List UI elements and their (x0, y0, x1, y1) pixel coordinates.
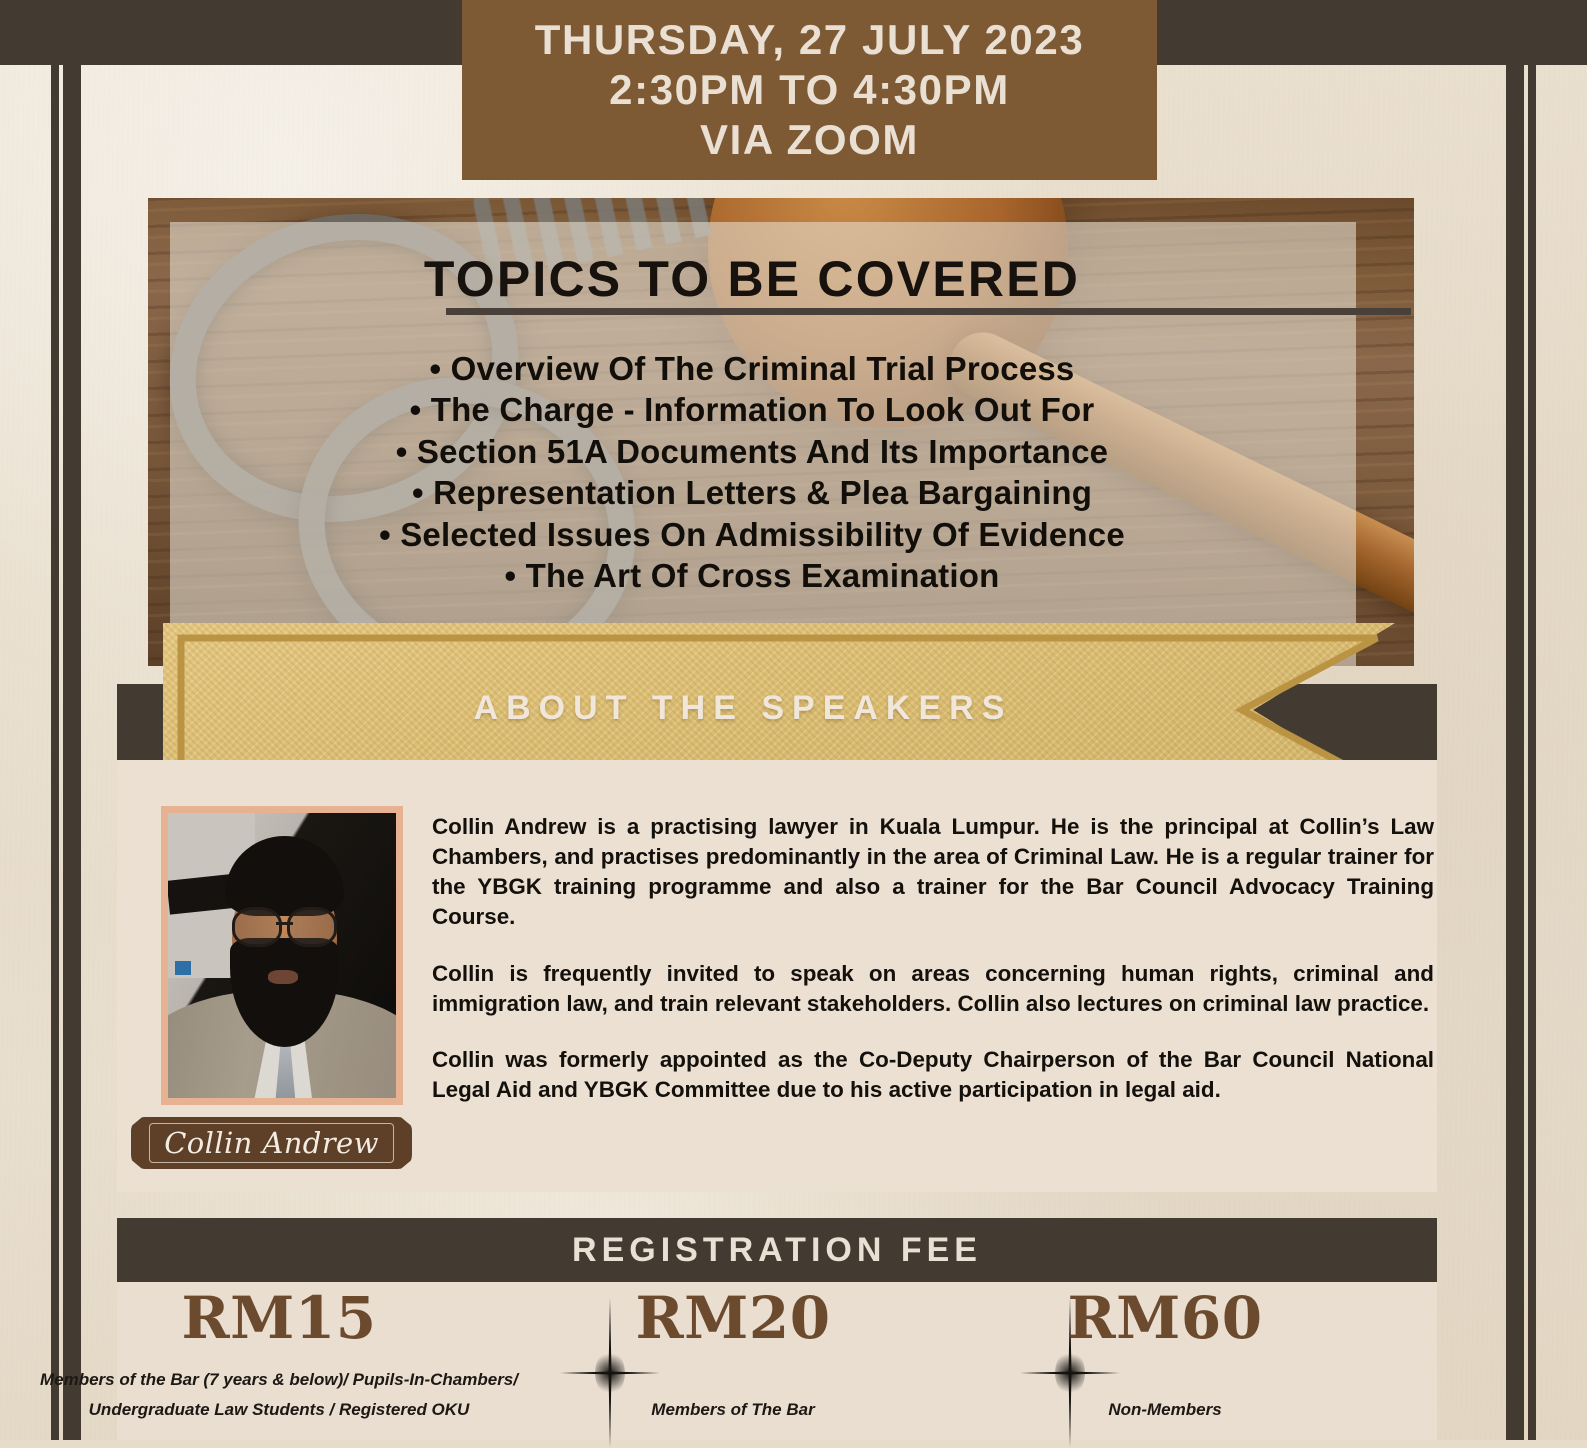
registration-fee-header: REGISTRATION FEE (117, 1218, 1437, 1282)
topics-section: TOPICS TO BE COVERED Overview Of The Cri… (148, 198, 1414, 666)
speaker-bio-text: Collin Andrew is a practising lawyer in … (432, 812, 1434, 1105)
topic-item: Section 51A Documents And Its Importance (148, 431, 1356, 472)
left-stripe-inner (63, 0, 81, 1440)
event-datetime-header: THURSDAY, 27 JULY 2023 2:30PM TO 4:30PM … (462, 0, 1157, 180)
fee-amount: RM60 (1010, 1288, 1320, 1349)
poster-canvas: THURSDAY, 27 JULY 2023 2:30PM TO 4:30PM … (0, 0, 1587, 1440)
bio-paragraph: Collin is frequently invited to speak on… (432, 959, 1434, 1019)
event-platform: VIA ZOOM (700, 116, 919, 164)
speaker-photo (161, 806, 403, 1105)
fee-amount: RM20 (568, 1288, 898, 1349)
fee-amount: RM15 (25, 1288, 533, 1349)
registration-fee-title: REGISTRATION FEE (572, 1231, 982, 1270)
bio-paragraph: Collin Andrew is a practising lawyer in … (432, 812, 1434, 933)
event-date: THURSDAY, 27 JULY 2023 (535, 16, 1085, 64)
fee-description: Members of the Bar (7 years & below)/ Pu… (25, 1365, 533, 1425)
topic-item: The Charge - Information To Look Out For (148, 389, 1356, 430)
topic-item: Overview Of The Criminal Trial Process (148, 348, 1356, 389)
topics-title: TOPICS TO BE COVERED (148, 250, 1356, 308)
fee-tier: RM15 Members of the Bar (7 years & below… (25, 1288, 533, 1425)
topics-title-underline (446, 308, 1411, 315)
bio-paragraph: Collin was formerly appointed as the Co-… (432, 1045, 1434, 1105)
topic-item: The Art Of Cross Examination (148, 555, 1356, 596)
left-stripe-outer (51, 0, 59, 1440)
eyeglasses-icon (232, 907, 337, 941)
topics-list: Overview Of The Criminal Trial Process T… (148, 348, 1356, 596)
speaker-nameplate: Collin Andrew (131, 1117, 412, 1169)
fee-description: Non-Members (1010, 1395, 1320, 1425)
about-speakers-label: ABOUT THE SPEAKERS (163, 689, 1323, 728)
fee-description: Members of The Bar (568, 1395, 898, 1425)
right-stripe-inner (1506, 0, 1524, 1440)
event-time: 2:30PM TO 4:30PM (609, 66, 1010, 114)
speaker-name: Collin Andrew (164, 1126, 379, 1160)
topic-item: Selected Issues On Admissibility Of Evid… (148, 514, 1356, 555)
fee-tier: RM20 Members of The Bar (568, 1288, 898, 1425)
right-stripe-outer (1528, 0, 1536, 1440)
topics-content: TOPICS TO BE COVERED Overview Of The Cri… (148, 198, 1414, 666)
fee-tier: RM60 Non-Members (1010, 1288, 1320, 1425)
topic-item: Representation Letters & Plea Bargaining (148, 472, 1356, 513)
